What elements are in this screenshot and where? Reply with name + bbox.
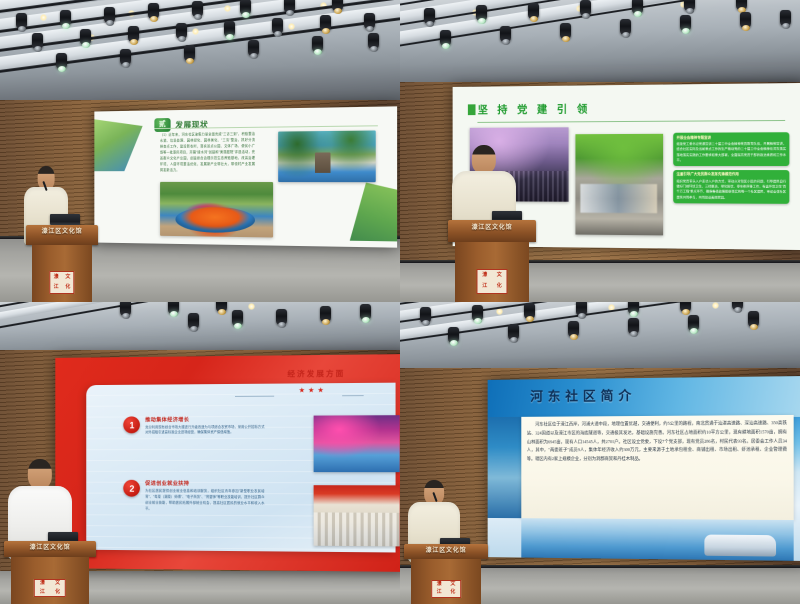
slide-title: 坚 持 党 建 引 领 — [478, 101, 591, 117]
content-box-1-heading: 开展全会精神专题宣讲 — [677, 134, 787, 139]
seal-char: 濠 — [432, 581, 446, 589]
led-screen: 贰 发展现状 （1）近年来，河东社区聚集力量全面完成"三访三到"，积极整治水道、… — [94, 106, 397, 247]
stage-spotlight — [168, 302, 179, 314]
venue-seal: 濠 文 江 化 — [476, 269, 507, 293]
slide-title: 河东社区简介 — [530, 385, 636, 405]
stage-spotlight — [148, 3, 159, 19]
podium: 濠江区文化馆 濠 文 江 化 — [26, 225, 98, 302]
slide-body-text: （1）近年来，河东社区聚集力量全面完成"三访三到"，积极整治水道、垃圾处理、园林… — [160, 132, 255, 174]
stage-spotlight — [528, 3, 539, 19]
stage-spotlight — [60, 10, 71, 26]
stage-spotlight — [420, 307, 431, 323]
seal-char: 化 — [50, 588, 65, 596]
seal-char: 化 — [492, 281, 507, 292]
village-alley-photo — [575, 133, 663, 235]
seal-char: 濠 — [477, 270, 492, 281]
stage-spotlight — [560, 23, 571, 39]
stage-spotlight — [128, 26, 139, 42]
seal-char: 江 — [50, 283, 62, 293]
podium-body: 濠 文 江 化 — [411, 559, 482, 604]
star-icon: ★ — [299, 388, 305, 395]
stage-spotlight — [500, 26, 511, 42]
stage-spotlight — [568, 321, 579, 337]
stage-spotlight — [424, 8, 435, 24]
star-decoration: ★ ★ ★ — [299, 388, 324, 395]
market-interior-photo — [313, 416, 400, 473]
slide-development-status: 贰 发展现状 （1）近年来，河东社区聚集力量全面完成"三访三到"，积极整治水道、… — [94, 106, 397, 247]
stage-spotlight — [320, 15, 331, 31]
podium: 濠江区文化馆 濠 文 江 化 — [448, 220, 536, 302]
photo-collage: 贰 发展现状 （1）近年来，河东社区聚集力量全面完成"三访三到"，积极整治水道、… — [0, 0, 800, 604]
training-class-photo — [313, 485, 400, 546]
seal-char: 化 — [62, 283, 74, 293]
stage-spotlight — [16, 13, 27, 29]
stage-spotlight — [284, 0, 295, 13]
content-box-1: 开展全会精神专题宣讲 组建党工委书记党课宣讲二十届三中全会精神党员教育队伍，开展… — [673, 132, 789, 166]
stage-spotlight — [476, 5, 487, 21]
content-box-2-heading: 注重引导广大党员群众发挥先锋模范作用 — [677, 172, 787, 177]
stage-spotlight — [440, 30, 451, 46]
stage-spotlight — [524, 303, 535, 319]
led-screen: 河东社区简介 河东社区位于濠江西岸，河浦大道中段，地理位置优越，交通便利，约5公… — [488, 376, 800, 561]
stage-spotlight — [248, 40, 259, 56]
stage-spotlight — [680, 302, 691, 312]
podium-sign-text: 濠江区文化馆 — [448, 222, 536, 231]
venue-seal: 濠 文 江 化 — [34, 579, 66, 598]
stage-spotlight — [508, 324, 519, 340]
podium-top: 濠江区文化馆 — [448, 220, 536, 241]
content-box-2-body: 组织党员带头入户走访入户的方式，带动众对辖区小区的问题，引导居民自行做好门前环境… — [677, 178, 787, 200]
stage-spotlight — [232, 310, 243, 326]
slide-economic-development: 经济发展方面 ★ ★ ★ 1 推动集体经济增长 充分利用现有综合市场大楼进行升级… — [55, 354, 400, 572]
stage-spotlight — [80, 29, 91, 45]
seal-char: 化 — [446, 589, 460, 597]
stage-spotlight — [32, 33, 43, 49]
slide-text-panel: 河东社区位于濠江西岸，河浦大道中段，地理位置优越，交通便利，约5公里的路程，南北… — [521, 414, 793, 519]
podium-top: 濠江区文化馆 — [404, 544, 488, 560]
item-heading: 促进创业就业扶持 — [145, 481, 264, 488]
list-item: 1 推动集体经济增长 充分利用现有综合市场大楼进行升级改造为与项综合农贸市场，采… — [124, 416, 265, 437]
collage-panel-bottom-right: 河东社区简介 河东社区位于濠江西岸，河浦大道中段，地理位置优越，交通便利，约5公… — [400, 302, 800, 604]
stage-spotlight — [748, 311, 759, 327]
stage-spotlight — [620, 19, 631, 35]
seal-char: 濠 — [50, 272, 62, 282]
venue-seal: 濠 文 江 化 — [49, 271, 74, 294]
slide-body-text: 河东社区位于濠江西岸，河浦大道中段，地理位置优越，交通便利，约5公里的路程，南北… — [527, 419, 787, 464]
podium-body: 濠 文 江 化 — [11, 557, 88, 604]
podium-body: 濠 文 江 化 — [32, 245, 92, 302]
stage-spotlight — [736, 0, 747, 10]
stage-spotlight — [780, 10, 791, 26]
side-photo — [488, 416, 521, 518]
title-divider — [478, 119, 786, 122]
stage-spotlight — [576, 302, 587, 316]
stage-spotlight — [276, 309, 287, 325]
podium-top: 濠江区文化馆 — [26, 225, 98, 245]
seal-char: 江 — [432, 589, 446, 597]
content-box-2: 注重引导广大党员群众发挥先锋模范作用 组织党员带头入户走访入户的方式，带动众对辖… — [673, 169, 789, 203]
stage-spotlight — [472, 305, 483, 321]
podium-sign-text: 濠江区文化馆 — [4, 542, 96, 551]
star-icon: ★ — [317, 388, 323, 395]
stage-spotlight — [56, 53, 67, 69]
star-icon: ★ — [308, 388, 314, 395]
seal-char: 江 — [477, 281, 492, 292]
collage-panel-top-left: 贰 发展现状 （1）近年来，河东社区聚集力量全面完成"三访三到"，积极整治水道、… — [0, 0, 400, 302]
item-body: 充分利用现有综合市场大楼进行升级改造为与项综合农贸市场，采用公开招标方式对外招租… — [145, 425, 264, 437]
stage-spotlight — [368, 33, 379, 49]
item-body: 为社区居民提供创业就业信息和培训服务，组织社区青年参加"新型职业农民培育"、"粤… — [145, 489, 264, 513]
stage-spotlight — [184, 45, 195, 61]
stage-spotlight — [216, 302, 227, 312]
waterfront-pavilion-photo — [278, 130, 376, 182]
list-item: 2 促进创业就业扶持 为社区居民提供创业就业信息和培训服务，组织社区青年参加"新… — [124, 481, 265, 514]
content-box-1-body: 组建党工委书记党课宣讲二十届三中全会精神党员教育队伍，开展精神宣讲，结合社区实际… — [677, 141, 787, 163]
stage-spotlight — [740, 12, 751, 28]
stage-spotlight — [192, 1, 203, 17]
stage-spotlight — [188, 313, 199, 329]
stage-spotlight — [272, 18, 283, 34]
ceiling — [400, 0, 800, 91]
podium-sign-text: 濠江区文化馆 — [404, 545, 488, 554]
venue-seal: 濠 文 江 化 — [431, 580, 461, 598]
stage-spotlight — [312, 36, 323, 52]
item-heading: 推动集体经济增长 — [145, 416, 264, 424]
seal-char: 文 — [492, 270, 507, 281]
ceiling — [0, 0, 400, 109]
item-number-badge: 1 — [124, 417, 141, 434]
stage-spotlight — [240, 0, 251, 15]
stage-spotlight — [732, 302, 743, 310]
stage-spotlight — [120, 49, 131, 65]
speaker-head — [28, 459, 52, 489]
stage-spotlight — [628, 318, 639, 334]
podium-sign-text: 濠江区文化馆 — [26, 226, 98, 235]
laptop-icon — [50, 214, 80, 225]
stage-spotlight — [360, 304, 371, 320]
slide-community-profile: 河东社区简介 河东社区位于濠江西岸，河浦大道中段，地理位置优越，交通便利，约5公… — [488, 376, 800, 561]
flower-garden-photo — [160, 182, 274, 237]
stage-spotlight — [120, 302, 131, 316]
stage-spotlight — [580, 0, 591, 16]
stage-spotlight — [104, 7, 115, 23]
stage-spotlight — [364, 13, 375, 29]
item-number-badge: 2 — [124, 481, 141, 498]
led-screen: 经济发展方面 ★ ★ ★ 1 推动集体经济增长 充分利用现有综合市场大楼进行升级… — [55, 354, 400, 572]
speaker-head — [472, 145, 496, 174]
slide-title: 经济发展方面 — [287, 368, 345, 380]
stage-spotlight — [680, 15, 691, 31]
podium-top: 濠江区文化馆 — [4, 541, 96, 557]
seal-char: 文 — [446, 581, 460, 589]
title-marker — [468, 104, 476, 115]
podium-body: 濠 文 江 化 — [455, 242, 529, 302]
stage-spotlight — [684, 0, 695, 11]
section-number-badge: 贰 — [154, 118, 170, 132]
bottom-photo-strip — [521, 518, 793, 561]
stage-spotlight — [632, 0, 643, 14]
slide-title-group: 贰 发展现状 — [154, 117, 208, 132]
stage-spotlight — [176, 23, 187, 39]
stage-spotlight — [224, 21, 235, 37]
seal-char: 文 — [50, 580, 65, 588]
stage-spotlight — [628, 302, 639, 314]
collage-panel-top-right: 坚 持 党 建 引 领 开展全会精神专题宣讲 组建党工委书记党课宣讲二十届三中全… — [400, 0, 800, 302]
seal-char: 文 — [62, 272, 74, 282]
stage-spotlight — [332, 0, 343, 11]
stage-spotlight — [320, 306, 331, 322]
decor-corner-bottom-right — [346, 182, 398, 241]
seal-char: 濠 — [35, 580, 50, 588]
stage-spotlight — [688, 315, 699, 331]
collage-panel-bottom-left: 经济发展方面 ★ ★ ★ 1 推动集体经济增长 充分利用现有综合市场大楼进行升级… — [0, 302, 400, 604]
podium: 濠江区文化馆 濠 文 江 化 — [404, 544, 488, 604]
podium: 濠江区文化馆 濠 文 江 化 — [4, 541, 96, 604]
decor-corner-top-left — [94, 118, 142, 171]
seal-char: 江 — [35, 588, 50, 596]
stage-spotlight — [448, 327, 459, 343]
